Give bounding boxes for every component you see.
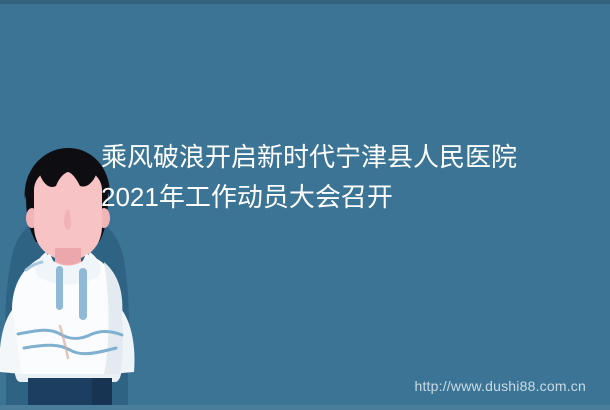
drawstring-left xyxy=(56,266,63,310)
neck-shadow xyxy=(55,248,81,265)
article-cover-card: 乘风破浪开启新时代宁津县人民医院2021年工作动员大会召开 http://www… xyxy=(0,0,610,410)
page-title: 乘风破浪开启新时代宁津县人民医院2021年工作动员大会召开 xyxy=(101,137,521,217)
bottom-edge-strip xyxy=(0,405,610,410)
drawstring-right xyxy=(79,268,87,320)
top-edge-strip xyxy=(0,0,610,4)
site-watermark-url: http://www.dushi88.com.cn xyxy=(414,378,586,394)
